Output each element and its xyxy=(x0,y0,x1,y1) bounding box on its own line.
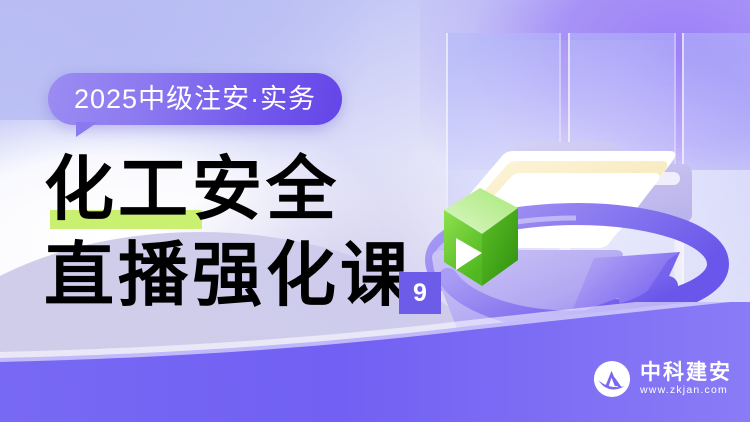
episode-badge: 9 xyxy=(399,272,441,314)
brand-logo[interactable]: 中科建安 www.zkjan.com xyxy=(593,360,732,398)
course-tag-pill[interactable]: 2025中级注安·实务 xyxy=(48,73,342,125)
brand-name: 中科建安 xyxy=(640,362,732,383)
course-banner: 2025中级注安·实务 化工安全 直播强化课 9 中科建安 www.zkjan.… xyxy=(0,0,750,422)
headline-row-1: 化工安全 xyxy=(44,148,474,234)
course-tag-label: 2025中级注安·实务 xyxy=(74,86,316,113)
course-tag-tail xyxy=(76,122,98,137)
course-tag[interactable]: 2025中级注安·实务 xyxy=(48,73,342,125)
mountain-person-circle-icon xyxy=(593,360,631,398)
brand-url: www.zkjan.com xyxy=(640,385,732,396)
headline-line-1: 化工安全 xyxy=(44,148,474,234)
brand-logo-texts: 中科建安 www.zkjan.com xyxy=(640,362,732,396)
